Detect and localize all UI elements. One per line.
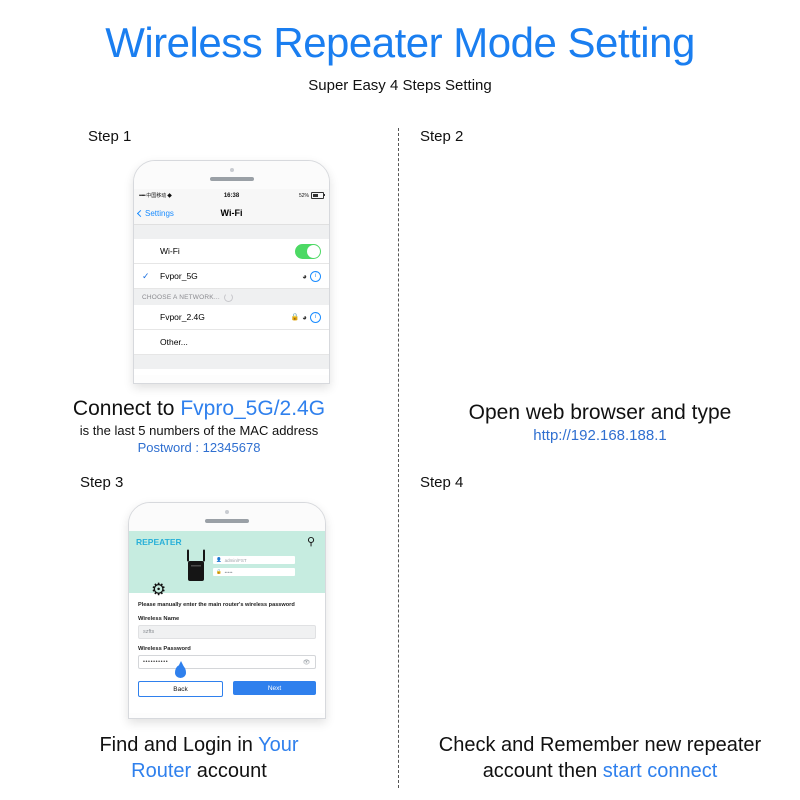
caption-line-2: is the last 5 numbers of the MAC address xyxy=(0,422,398,439)
wireless-setup-form: Please manually enter the main router's … xyxy=(129,593,325,697)
wireless-name-value: szfts xyxy=(143,629,154,635)
caption-line-1: Find and Login in Your xyxy=(0,732,398,758)
phone-mockup-step-1: ••••• 中国移动 ◆ 16:38 52% Settings xyxy=(133,160,330,384)
wireless-password-value: •••••••••• xyxy=(143,659,168,665)
network-name-label: Fvpor_5G xyxy=(160,271,198,281)
eye-icon[interactable]: 👁 xyxy=(303,659,311,666)
phone-screen-step-1: ••••• 中国移动 ◆ 16:38 52% Settings xyxy=(134,189,329,375)
caption-blue-text: start connect xyxy=(603,760,718,782)
lock-icon: 🔒 xyxy=(216,569,222,575)
caption-blue-text: Your xyxy=(258,734,298,756)
wireless-password-input[interactable]: •••••••••• 👁 xyxy=(138,655,316,669)
caption-black-text: account then xyxy=(483,760,603,782)
step-4-panel: Step 4 REPEATER xyxy=(400,474,800,800)
step-3-panel: Step 3 REPEATER ⚲ xyxy=(0,474,398,800)
list-top-gap xyxy=(134,225,329,239)
repeater-device-icon xyxy=(183,549,209,583)
page-title: Wireless Repeater Mode Setting xyxy=(0,18,800,68)
list-bottom-gap xyxy=(134,355,329,369)
caption-line-1: Open web browser and type xyxy=(400,400,800,426)
phone-earpiece-area xyxy=(134,161,329,189)
username-display: 👤 admin/FST xyxy=(213,556,295,564)
earpiece-speaker xyxy=(210,177,254,181)
checkmark-icon: ✓ xyxy=(142,271,150,282)
network-row-other[interactable]: Other... xyxy=(134,330,329,355)
username-value: admin/FST xyxy=(225,558,247,563)
step-1-label: Step 1 xyxy=(88,128,131,145)
ios-nav-bar: Settings Wi-Fi xyxy=(134,202,329,225)
front-camera-icon xyxy=(225,510,229,514)
tap-pointer-indicator xyxy=(175,665,186,678)
password-value: ••••• xyxy=(225,570,233,575)
person-icon: 👤 xyxy=(216,557,222,563)
password-display: 🔒 ••••• xyxy=(213,568,295,576)
repeater-header-banner: REPEATER ⚲ 👤 admin/FST 🔒 ••••• xyxy=(129,531,325,593)
caption-line-2: account then start connect xyxy=(400,758,800,784)
step-4-label: Step 4 xyxy=(420,474,463,491)
step-1-panel: Step 1 ••••• 中国移动 ◆ 16:38 xyxy=(0,128,398,468)
key-icon: ⚲ xyxy=(307,535,315,548)
phone-mockup-step-3: REPEATER ⚲ 👤 admin/FST 🔒 ••••• xyxy=(128,502,326,719)
caption-black-text: Find and Login in xyxy=(99,734,258,756)
repeater-brand-label: REPEATER xyxy=(136,537,182,547)
lock-icon: 🔒 xyxy=(290,313,299,321)
wireless-name-label: Wireless Name xyxy=(138,616,316,622)
wireless-password-label: Wireless Password xyxy=(138,646,316,652)
gear-icon: ⚙ xyxy=(151,581,166,598)
caption-line-2: http://192.168.188.1 xyxy=(400,426,800,446)
wifi-signal-icon: ◕ xyxy=(302,313,307,322)
front-camera-icon xyxy=(230,168,234,172)
caption-black-text: account xyxy=(191,760,267,782)
vertical-divider xyxy=(398,128,399,788)
earpiece-speaker xyxy=(205,519,249,523)
step-2-label: Step 2 xyxy=(420,128,463,145)
step-3-caption: Find and Login in Your Router account xyxy=(0,732,398,784)
manual-entry-hint: Please manually enter the main router's … xyxy=(138,601,316,609)
step-2-caption: Open web browser and type http://192.168… xyxy=(400,400,800,446)
network-row-available[interactable]: Fvpor_2.4G 🔒 ◕ i xyxy=(134,305,329,330)
section-header-label: CHOOSE A NETWORK... xyxy=(142,294,220,301)
wifi-signal-icon: ◕ xyxy=(302,272,307,281)
wifi-row-label: Wi-Fi xyxy=(160,246,180,256)
step-4-caption: Check and Remember new repeater account … xyxy=(400,732,800,784)
battery-icon xyxy=(311,192,324,199)
wifi-toggle-row[interactable]: Wi-Fi xyxy=(134,239,329,264)
caption-blue-text: Fvpro_5G/2.4G xyxy=(180,397,325,420)
wireless-name-input[interactable]: szfts xyxy=(138,625,316,639)
infographic-page: Wireless Repeater Mode Setting Super Eas… xyxy=(0,0,800,800)
info-icon[interactable]: i xyxy=(310,312,321,323)
step-2-panel: Step 2 192.168.188.1/mobile/login.asp RE… xyxy=(400,128,800,468)
form-button-row: Back Next xyxy=(138,681,316,697)
caption-blue-text: Router xyxy=(131,760,191,782)
choose-network-section-header: CHOOSE A NETWORK... xyxy=(134,289,329,305)
caption-black-text: Connect to xyxy=(73,397,180,420)
network-row-connected[interactable]: ✓ Fvpor_5G ◕ i xyxy=(134,264,329,289)
step-1-caption: Connect to Fvpro_5G/2.4G is the last 5 n… xyxy=(0,396,398,456)
battery-percent-label: 52% xyxy=(299,193,309,199)
other-network-label: Other... xyxy=(160,337,188,347)
back-button[interactable]: Back xyxy=(138,681,223,697)
caption-line-3: Postword : 12345678 xyxy=(0,439,398,456)
next-button[interactable]: Next xyxy=(233,681,316,695)
loading-spinner-icon xyxy=(224,293,233,302)
screen-title: Wi-Fi xyxy=(134,208,329,218)
caption-line-1: Check and Remember new repeater xyxy=(400,732,800,758)
wifi-toggle-switch[interactable] xyxy=(295,244,321,259)
caption-line-2: Router account xyxy=(0,758,398,784)
page-subtitle: Super Easy 4 Steps Setting xyxy=(0,76,800,96)
network-name-label: Fvpor_2.4G xyxy=(160,312,205,322)
caption-line-1: Connect to Fvpro_5G/2.4G xyxy=(0,396,398,422)
info-icon[interactable]: i xyxy=(310,271,321,282)
step-3-label: Step 3 xyxy=(80,474,123,491)
ios-status-bar: ••••• 中国移动 ◆ 16:38 52% xyxy=(134,189,329,202)
phone-earpiece-area xyxy=(129,503,325,531)
phone-screen-step-3: REPEATER ⚲ 👤 admin/FST 🔒 ••••• xyxy=(129,531,325,713)
